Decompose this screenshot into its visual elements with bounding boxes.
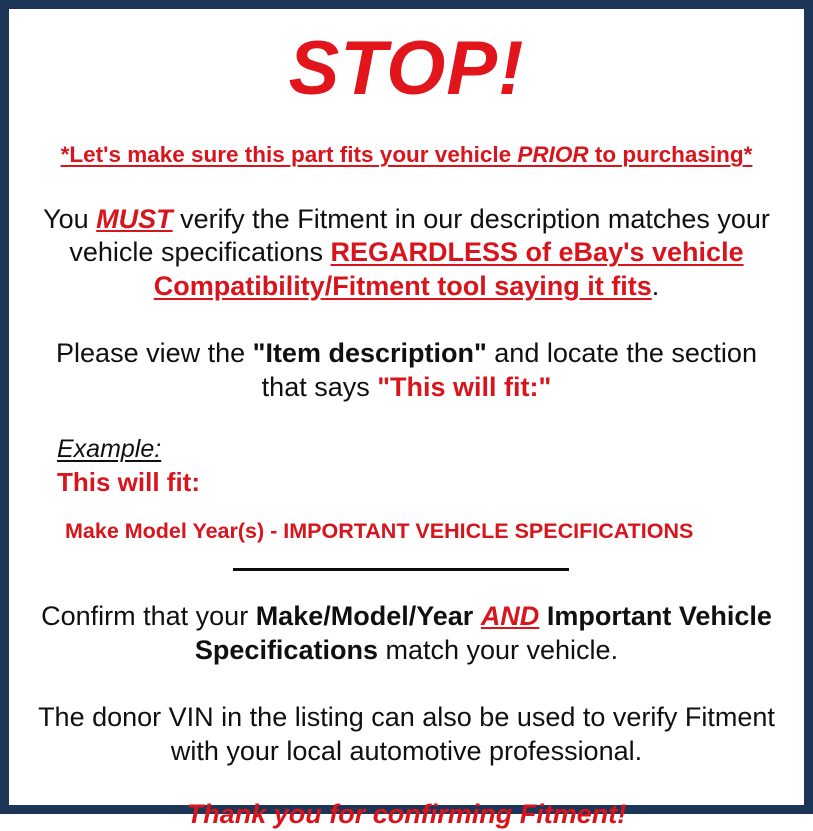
must-verify-paragraph: You MUST verify the Fitment in our descr…	[21, 203, 792, 303]
tagline-text-after: to purchasing*	[589, 142, 753, 167]
example-block: Example: This will fit: Make Model Year(…	[21, 436, 792, 544]
item-description-emphasis: "Item description"	[253, 338, 487, 368]
divider-rule	[233, 568, 569, 571]
example-this-will-fit-line: This will fit:	[57, 467, 792, 498]
confirm-paragraph: Confirm that your Make/Model/Year AND Im…	[21, 600, 792, 667]
must-paragraph-part3: .	[652, 271, 660, 301]
must-paragraph-part1: You	[43, 204, 96, 234]
confirm-part2: match your vehicle.	[378, 635, 618, 665]
and-emphasis: AND	[481, 601, 540, 631]
confirm-space1	[473, 601, 481, 631]
tagline-prior-emphasis: PRIOR	[517, 142, 588, 167]
confirm-part1: Confirm that your	[41, 601, 256, 631]
example-spec-line: Make Model Year(s) - IMPORTANT VEHICLE S…	[57, 519, 792, 545]
tagline-text-before: *Let's make sure this part fits your veh…	[61, 142, 518, 167]
must-emphasis: MUST	[96, 204, 173, 234]
item-desc-part1: Please view the	[56, 338, 253, 368]
make-model-year-emphasis: Make/Model/Year	[256, 601, 474, 631]
thank-you-line: Thank you for confirming Fitment!	[21, 798, 792, 830]
this-will-fit-emphasis: "This will fit:"	[377, 372, 551, 402]
page-title: STOP!	[21, 31, 792, 107]
vin-paragraph: The donor VIN in the listing can also be…	[21, 701, 792, 768]
example-label: Example:	[57, 436, 792, 464]
divider	[21, 568, 792, 582]
confirm-space2	[539, 601, 547, 631]
tagline: *Let's make sure this part fits your veh…	[21, 141, 792, 168]
item-description-paragraph: Please view the "Item description" and l…	[21, 337, 792, 404]
fitment-notice-card: STOP! *Let's make sure this part fits yo…	[0, 0, 813, 814]
